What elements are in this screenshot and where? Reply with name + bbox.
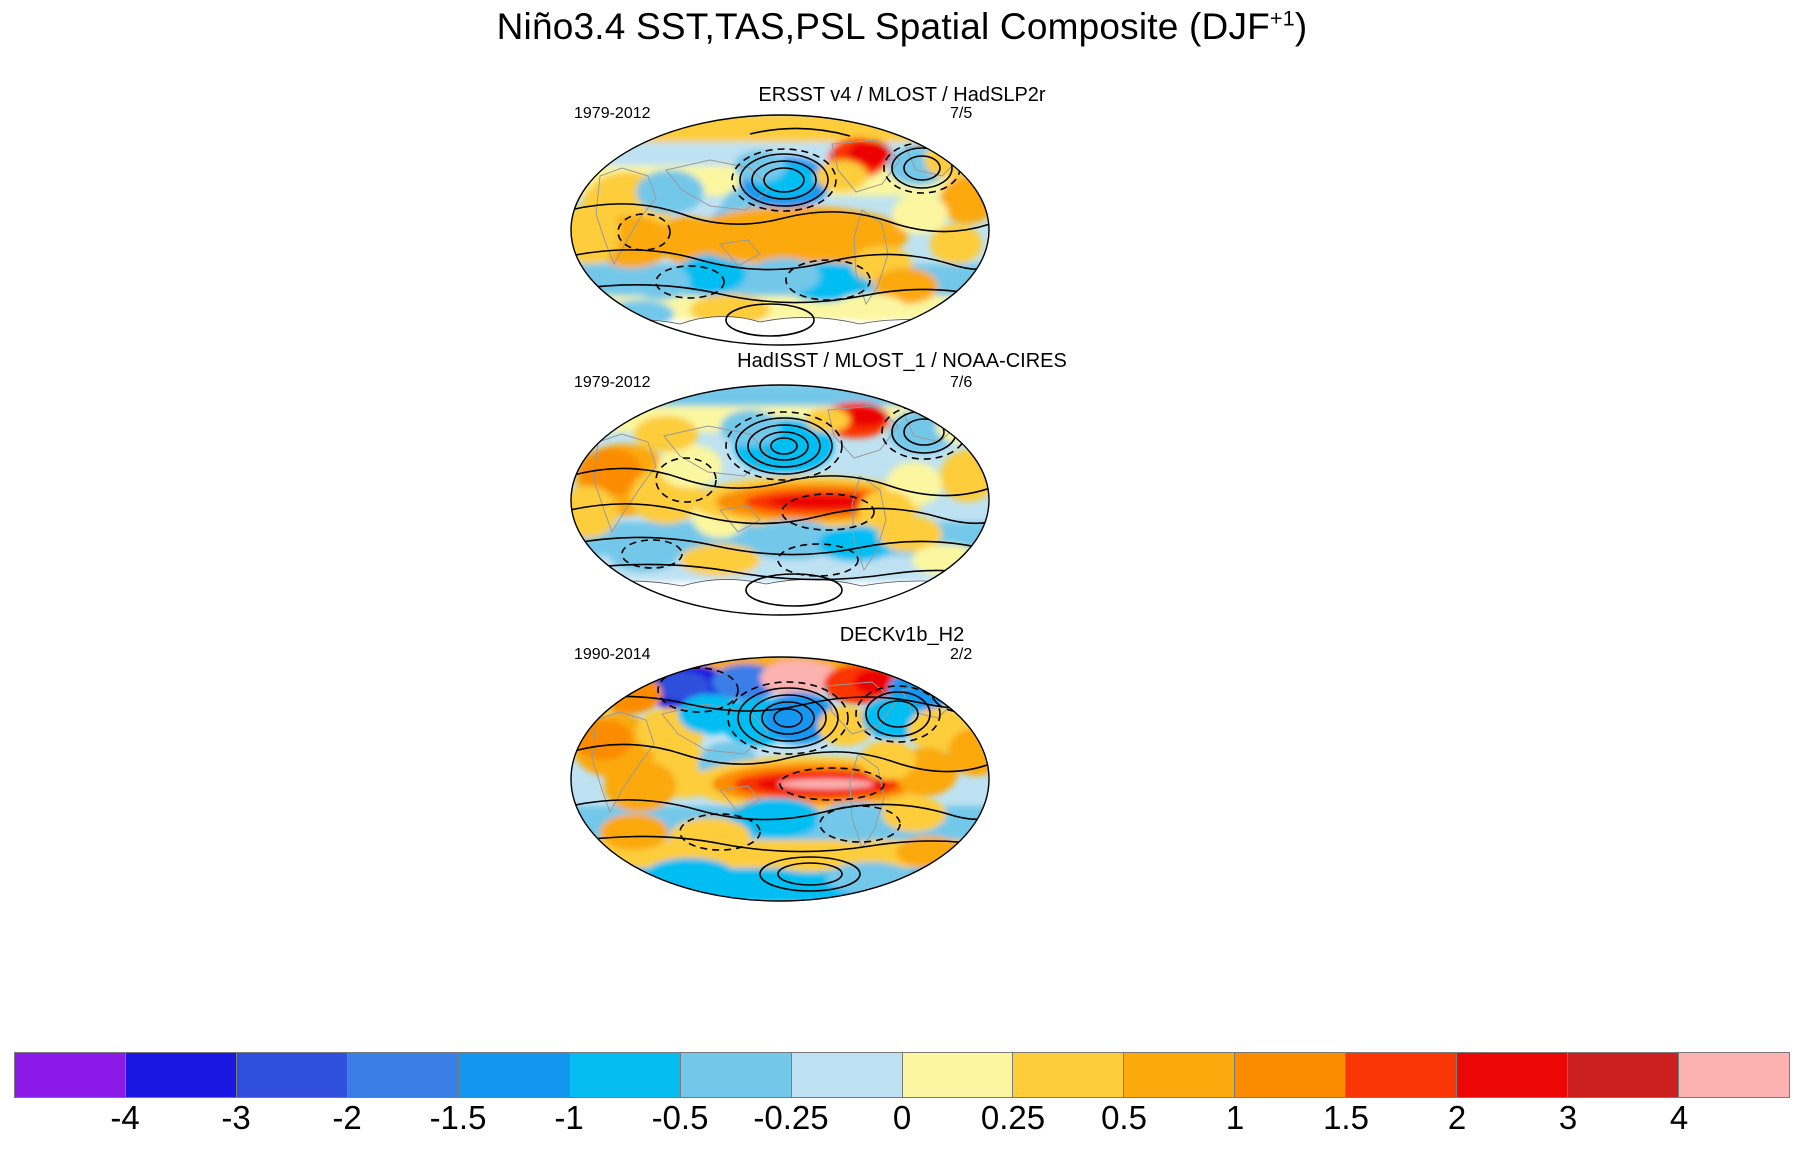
colorbar-cell-4 (459, 1053, 570, 1097)
figure-title-main: Niño3.4 SST,TAS,PSL Spatial Composite (D… (497, 6, 1270, 47)
figure-title-close: ) (1295, 6, 1308, 47)
colorbar-cell-13 (1457, 1053, 1568, 1097)
colorbar (14, 1052, 1790, 1098)
colorbar-tick-6: -0.25 (753, 1098, 828, 1138)
figure-canvas: Niño3.4 SST,TAS,PSL Spatial Composite (D… (0, 0, 1804, 1151)
colorbar-tick-9: 0.5 (1101, 1098, 1147, 1138)
colorbar-cell-10 (1124, 1053, 1235, 1097)
figure-title-superscript: +1 (1270, 7, 1295, 31)
colorbar-cell-11 (1235, 1053, 1346, 1097)
colorbar-cell-9 (1013, 1053, 1124, 1097)
figure-title: Niño3.4 SST,TAS,PSL Spatial Composite (D… (0, 6, 1804, 48)
panel-2: HadISST / MLOST_1 / NOAA-CIRES 1979-2012… (452, 350, 1352, 622)
colorbar-cell-6 (681, 1053, 792, 1097)
panel-3: DECKv1b_H2 1990-2014 2/2 (452, 624, 1352, 900)
colorbar-tick-1: -3 (221, 1098, 250, 1138)
colorbar-tick-7: 0 (893, 1098, 911, 1138)
colorbar-tick-5: -0.5 (652, 1098, 709, 1138)
panel-1: ERSST v4 / MLOST / HadSLP2r 1979-2012 7/… (452, 84, 1352, 346)
panel-1-title: ERSST v4 / MLOST / HadSLP2r (452, 84, 1352, 107)
colorbar-tick-labels: -4-3-2-1.5-1-0.5-0.2500.250.511.5234 (14, 1098, 1790, 1146)
colorbar-cell-14 (1568, 1053, 1679, 1097)
colorbar-cell-15 (1679, 1053, 1789, 1097)
colorbar-cell-8 (903, 1053, 1014, 1097)
panel-3-map (570, 656, 990, 902)
colorbar-cell-0 (15, 1053, 126, 1097)
colorbar-tick-8: 0.25 (981, 1098, 1045, 1138)
colorbar-cell-3 (348, 1053, 459, 1097)
colorbar-cell-7 (792, 1053, 903, 1097)
panel-3-title: DECKv1b_H2 (452, 624, 1352, 647)
colorbar-cell-1 (126, 1053, 237, 1097)
colorbar-cell-2 (237, 1053, 348, 1097)
colorbar-tick-13: 3 (1559, 1098, 1577, 1138)
colorbar-tick-12: 2 (1448, 1098, 1466, 1138)
colorbar-tick-2: -2 (332, 1098, 361, 1138)
colorbar-tick-0: -4 (110, 1098, 139, 1138)
colorbar-tick-11: 1.5 (1323, 1098, 1369, 1138)
colorbar-tick-14: 4 (1670, 1098, 1688, 1138)
colorbar-tick-3: -1.5 (430, 1098, 487, 1138)
colorbar-tick-10: 1 (1226, 1098, 1244, 1138)
colorbar-cell-12 (1346, 1053, 1457, 1097)
colorbar-tick-4: -1 (554, 1098, 583, 1138)
panel-2-map (570, 384, 990, 616)
panel-1-map (570, 114, 990, 346)
colorbar-cell-5 (570, 1053, 681, 1097)
panel-2-title: HadISST / MLOST_1 / NOAA-CIRES (452, 350, 1352, 373)
